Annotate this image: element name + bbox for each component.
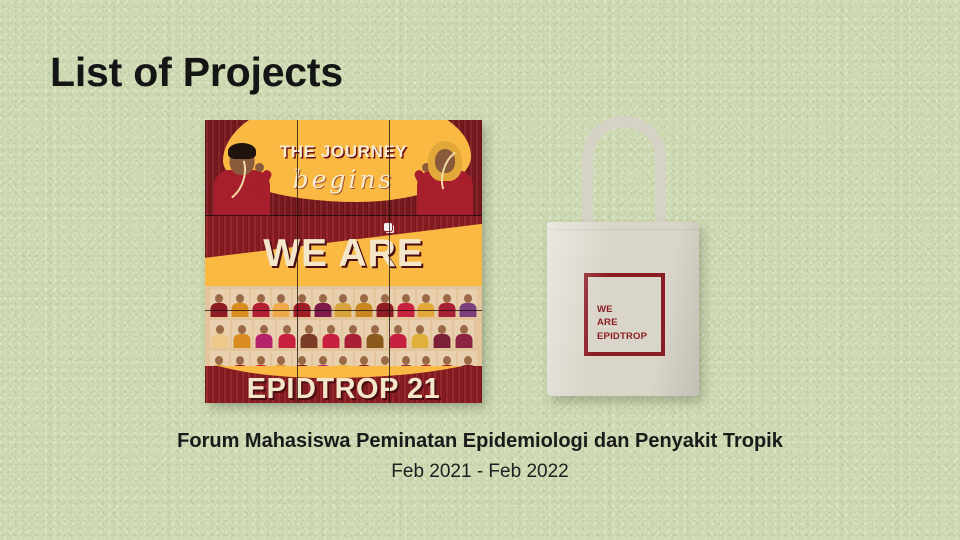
portrait-head xyxy=(416,325,424,334)
portrait-head xyxy=(260,325,268,334)
grid-divider-horizontal-1 xyxy=(205,215,482,216)
poster-journey-headline: THE JOURNEY xyxy=(205,142,482,162)
portrait-head xyxy=(402,294,410,303)
poster-row-journey: THE JOURNEY begins xyxy=(205,120,482,216)
portrait-grid-cell xyxy=(417,289,436,317)
portrait-grid-cell xyxy=(231,289,250,317)
portrait-shirt xyxy=(367,334,384,348)
portrait-head xyxy=(339,356,347,365)
portrait-head xyxy=(381,356,389,365)
portrait-head xyxy=(360,356,368,365)
portrait-shirt xyxy=(300,334,317,348)
portrait-grid-cell xyxy=(396,289,415,317)
tote-bag-mockup[interactable]: WE ARE EPIDTROP xyxy=(540,116,706,401)
portrait-head xyxy=(422,294,430,303)
portrait-grid-cell xyxy=(299,320,319,348)
portrait-grid-cell xyxy=(293,289,312,317)
portrait-grid-cell xyxy=(334,289,353,317)
portrait-head xyxy=(460,325,468,334)
portrait-grid-cell xyxy=(365,320,385,348)
page-title: List of Projects xyxy=(50,48,343,97)
portrait-grid-cell xyxy=(454,320,474,348)
portrait-grid-cell xyxy=(321,320,341,348)
portrait-head xyxy=(216,325,224,334)
portrait-shirt xyxy=(456,334,473,348)
carousel-icon-front-square xyxy=(384,223,392,231)
portrait-head xyxy=(339,294,347,303)
portrait-head xyxy=(327,325,335,334)
portrait-shirt xyxy=(256,334,273,348)
portrait-head xyxy=(298,356,306,365)
slide-canvas: List of Projects xyxy=(0,0,960,540)
portrait-head xyxy=(381,294,389,303)
portrait-head xyxy=(464,356,472,365)
poster-weare-headline: WE ARE xyxy=(205,232,482,276)
portrait-head xyxy=(215,294,223,303)
project-poster[interactable]: THE JOURNEY begins WE ARE xyxy=(205,120,482,403)
portrait-grid-cell xyxy=(277,320,297,348)
portrait-grid-cell xyxy=(251,289,270,317)
portrait-shirt xyxy=(389,334,406,348)
grid-divider-horizontal-2 xyxy=(205,310,482,311)
portrait-grid-row xyxy=(210,289,477,317)
portrait-grid-cell xyxy=(388,320,408,348)
portrait-head xyxy=(360,294,368,303)
portrait-head xyxy=(438,325,446,334)
poster-row-epidtrop: EPIDTROP 21 xyxy=(205,366,482,403)
portrait-grid-cell xyxy=(438,289,457,317)
portrait-shirt xyxy=(212,334,229,348)
portrait-head xyxy=(277,356,285,365)
portrait-shirt xyxy=(234,334,251,348)
poster-canvas: THE JOURNEY begins WE ARE xyxy=(205,120,482,403)
portrait-head xyxy=(371,325,379,334)
portrait-head xyxy=(319,294,327,303)
portrait-head xyxy=(238,325,246,334)
portrait-grid-cell xyxy=(376,289,395,317)
tote-bag-body: WE ARE EPIDTROP xyxy=(547,222,699,396)
tote-bag-shading xyxy=(547,222,699,396)
project-caption: Forum Mahasiswa Peminatan Epidemiologi d… xyxy=(0,428,960,485)
portrait-head xyxy=(283,325,291,334)
portrait-grid-row xyxy=(210,320,477,348)
portrait-head xyxy=(236,294,244,303)
portrait-grid-cell xyxy=(432,320,452,348)
portrait-grid-cell xyxy=(410,320,430,348)
portrait-head xyxy=(215,356,223,365)
portrait-head xyxy=(298,294,306,303)
portrait-grid-cell xyxy=(355,289,374,317)
portrait-shirt xyxy=(323,334,340,348)
portrait-grid-cell xyxy=(458,289,477,317)
portrait-head xyxy=(464,294,472,303)
portrait-head xyxy=(443,356,451,365)
portrait-head xyxy=(305,325,313,334)
portrait-head xyxy=(319,356,327,365)
portrait-grid-cell xyxy=(210,289,229,317)
poster-epidtrop-headline: EPIDTROP 21 xyxy=(205,373,482,403)
portrait-head xyxy=(422,356,430,365)
portrait-shirt xyxy=(411,334,428,348)
portrait-head xyxy=(402,356,410,365)
poster-row-weare: WE ARE xyxy=(205,216,482,291)
portrait-grid-cell xyxy=(254,320,274,348)
portrait-shirt xyxy=(345,334,362,348)
portrait-grid-cell xyxy=(272,289,291,317)
portrait-head xyxy=(277,294,285,303)
portrait-head xyxy=(257,356,265,365)
caption-organization: Forum Mahasiswa Peminatan Epidemiologi d… xyxy=(0,428,960,455)
portrait-head xyxy=(236,356,244,365)
portrait-shirt xyxy=(433,334,450,348)
portrait-grid-cell xyxy=(232,320,252,348)
grid-divider-vertical-2 xyxy=(389,120,390,403)
tote-bag-handle xyxy=(582,116,666,236)
grid-divider-vertical-1 xyxy=(297,120,298,403)
portrait-head xyxy=(349,325,357,334)
portrait-head xyxy=(257,294,265,303)
poster-begins-script: begins xyxy=(205,165,482,194)
caption-date-range: Feb 2021 - Feb 2022 xyxy=(0,459,960,485)
portrait-head xyxy=(443,294,451,303)
portrait-grid-cell xyxy=(210,320,230,348)
portrait-grid-cell xyxy=(313,289,332,317)
portrait-grid-cell xyxy=(343,320,363,348)
portrait-shirt xyxy=(278,334,295,348)
portrait-head xyxy=(394,325,402,334)
